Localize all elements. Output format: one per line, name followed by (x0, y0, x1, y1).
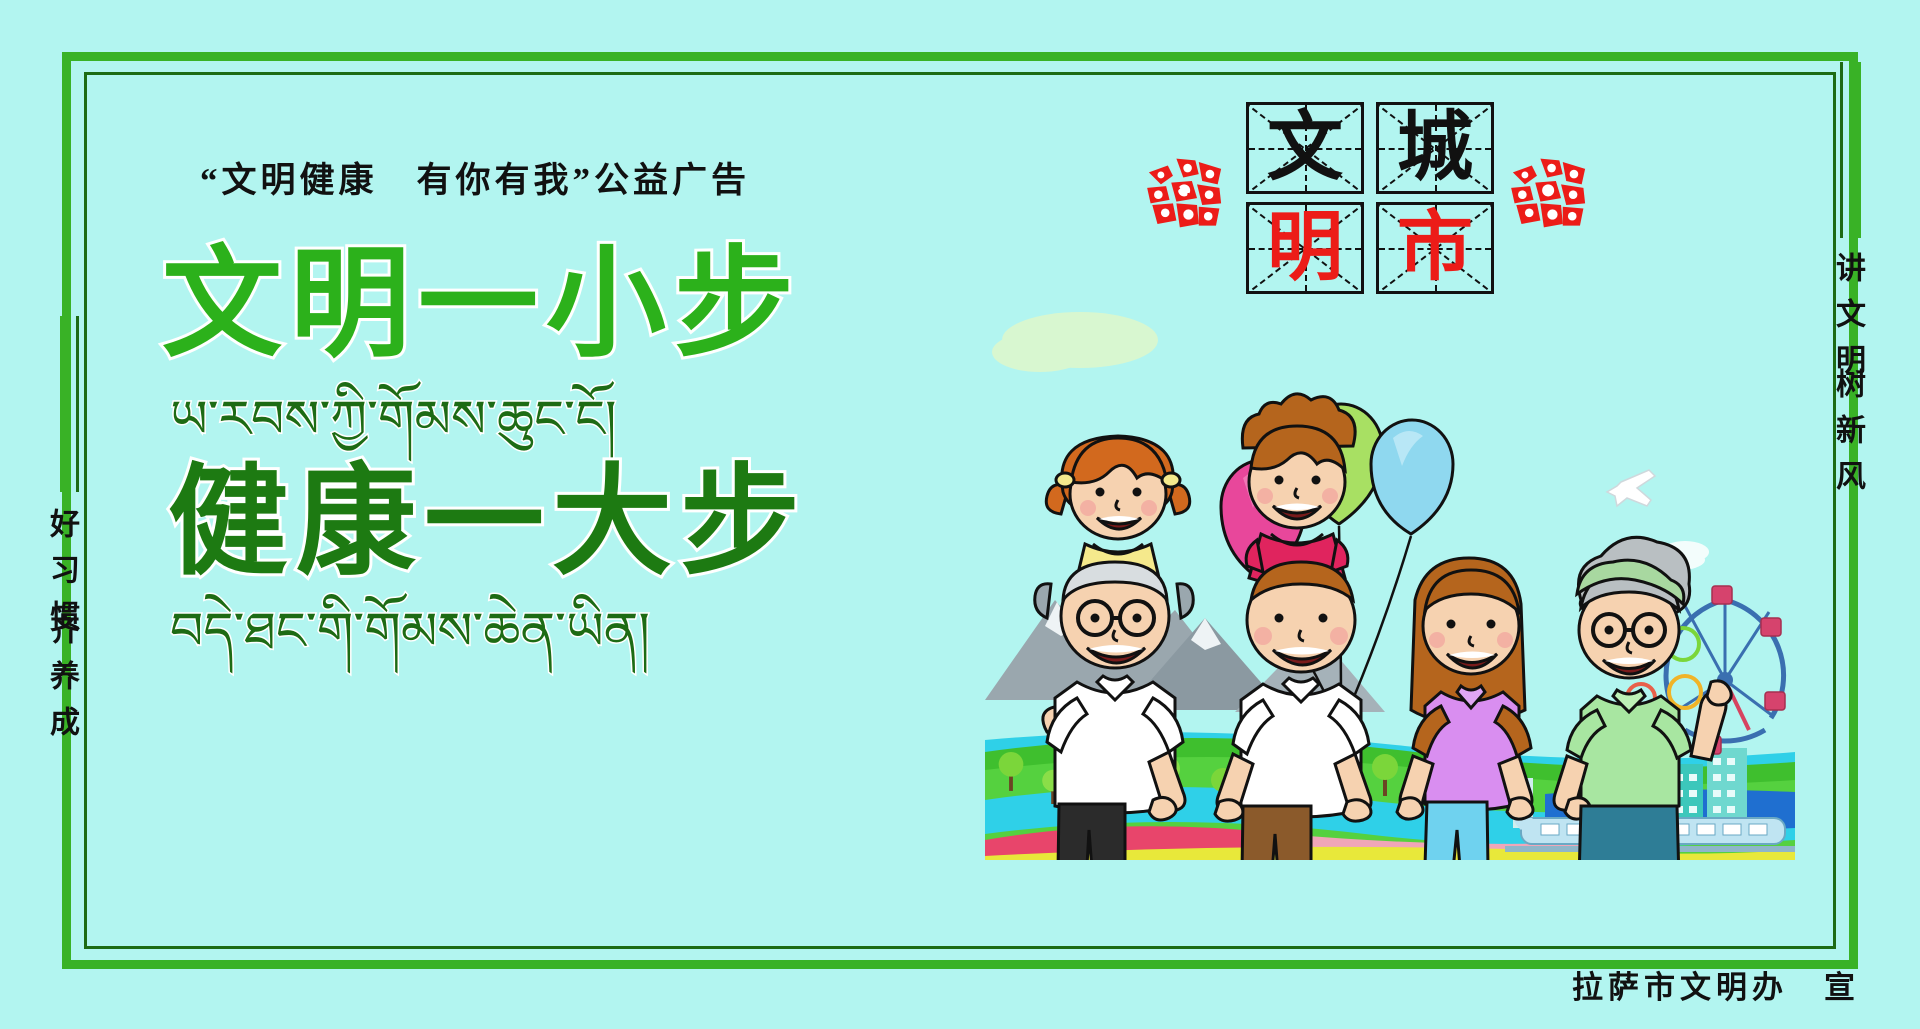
cloud-icon (992, 312, 1158, 372)
slogan-line-2-tibetan: བདེ་ཐང་གི་གོམས་ཆེན་ཡིན། (170, 604, 650, 661)
seal-char-2: 明 (1249, 205, 1361, 291)
right-rule-thin (1840, 62, 1843, 238)
left-rule-thick (60, 316, 69, 492)
seal-char-4: 市 (1379, 205, 1491, 291)
footer-attribution: 拉萨市文明办 宣 (1572, 962, 1860, 1007)
left-rule-thin (76, 316, 79, 492)
seal-cell-shi: 市 (1376, 202, 1494, 294)
airplane-icon (1607, 470, 1655, 506)
right-vertical-text-bottom: 树新风 (1832, 368, 1862, 506)
mother (1397, 558, 1533, 860)
slogan-line-1-tibetan: ཡ་རབས་ཀྱི་གོམས་ཆུང་ངོ། (170, 392, 617, 449)
calligraphy-seal-grid: 文 明 城 市 (1246, 102, 1498, 298)
papercut-ornament-right-icon (1506, 150, 1592, 238)
seal-char-1: 文 (1249, 105, 1361, 191)
seal-cell-ming: 明 (1246, 202, 1364, 294)
family-illustration (985, 300, 1795, 860)
left-vertical-text-bottom: 齐养成 (46, 614, 76, 752)
poster-canvas: “文明健康 有你有我”公益广告 文明一小步 ཡ་རབས་ཀྱི་གོམས་ཆུང… (0, 0, 1920, 1029)
seal-cell-wen: 文 (1246, 102, 1364, 194)
right-rule-thick (1852, 62, 1861, 238)
seal-cell-cheng: 城 (1376, 102, 1494, 194)
slogan-line-1: 文明一小步 (162, 244, 802, 364)
seal-char-3: 城 (1379, 105, 1491, 191)
slogan-line-2: 健康一大步 (168, 462, 808, 582)
headline-text: “文明健康 有你有我”公益广告 (200, 152, 750, 203)
papercut-ornament-left-icon (1142, 150, 1228, 238)
child-boy (1242, 394, 1355, 586)
